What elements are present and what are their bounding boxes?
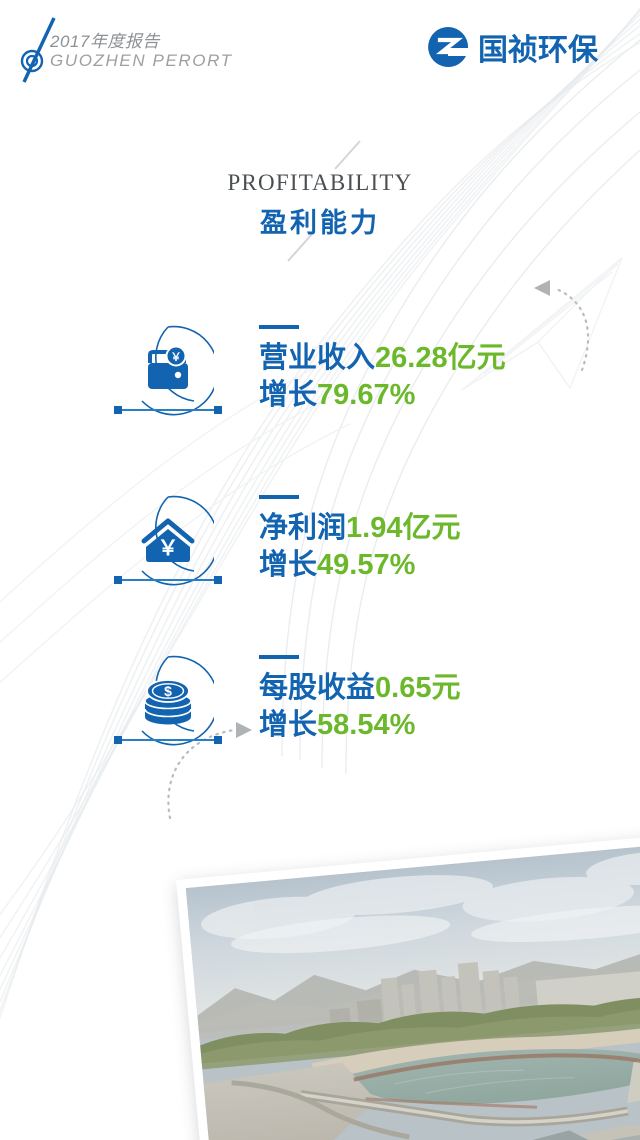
report-title: 2017年度报告 GUOZHEN PERORT: [50, 32, 233, 70]
metric-underline-rule: [113, 403, 223, 417]
facility-photo-card: [176, 834, 640, 1140]
metric-row-net-profit: ￥ 净利润1.94亿元 增长49.57%: [0, 495, 640, 605]
metric-dash-decoration: [259, 325, 299, 329]
metric-growth-label: 增长: [259, 379, 317, 411]
metric-underline-rule: [113, 733, 223, 747]
brand-logo: 国祯环保: [425, 24, 598, 70]
metric-growth-label: 增长: [259, 709, 317, 741]
metric-primary-line: 每股收益0.65元: [259, 670, 460, 707]
metric-growth-label: 增长: [259, 549, 317, 581]
report-year-label: 2017年度报告: [50, 32, 233, 51]
metric-growth-value: 58.54%: [317, 709, 415, 741]
metric-growth-line: 增长58.54%: [259, 707, 460, 744]
title-slash-top-decoration: [330, 138, 364, 172]
metric-value: 0.65元: [375, 672, 460, 704]
svg-text:￥: ￥: [171, 351, 182, 363]
section-title-cn: 盈利能力: [0, 201, 640, 240]
metric-label: 每股收益: [259, 672, 375, 704]
metric-growth-line: 增长79.67%: [259, 377, 506, 414]
metric-primary-line: 营业收入26.28亿元: [259, 340, 506, 377]
metric-growth-line: 增长49.57%: [259, 547, 460, 584]
svg-text:￥: ￥: [158, 537, 179, 560]
metric-row-eps: $ 每股收益0.65元 增长58.54%: [0, 655, 640, 765]
metric-growth-value: 49.57%: [317, 549, 415, 581]
section-title-en: PROFITABILITY: [0, 170, 640, 196]
report-english-label: GUOZHEN PERORT: [50, 51, 233, 70]
infographic-page: 2017年度报告 GUOZHEN PERORT 国祯环保 PROFITABILI…: [0, 0, 640, 1140]
metric-underline-rule: [113, 573, 223, 587]
section-title: PROFITABILITY 盈利能力: [0, 170, 640, 240]
metric-label: 营业收入: [259, 342, 375, 374]
metric-label: 净利润: [259, 512, 346, 544]
metric-row-revenue: ￥ 营业收入26.28亿元 增长79.67%: [0, 325, 640, 435]
metric-text-block: 净利润1.94亿元 增长49.57%: [259, 495, 460, 584]
metric-primary-line: 净利润1.94亿元: [259, 510, 460, 547]
svg-text:$: $: [164, 683, 172, 699]
metric-value: 1.94亿元: [346, 512, 460, 544]
metric-value: 26.28亿元: [375, 342, 506, 374]
metric-dash-decoration: [259, 655, 299, 659]
metric-text-block: 营业收入26.28亿元 增长79.67%: [259, 325, 506, 414]
wastewater-treatment-plant-aerial-photo: [186, 844, 640, 1140]
page-header: 2017年度报告 GUOZHEN PERORT 国祯环保: [0, 0, 640, 100]
metric-text-block: 每股收益0.65元 增长58.54%: [259, 655, 460, 744]
metric-dash-decoration: [259, 495, 299, 499]
metric-growth-value: 79.67%: [317, 379, 415, 411]
brand-name-label: 国祯环保: [478, 25, 598, 69]
guozhen-circular-logo-icon: [425, 24, 471, 70]
